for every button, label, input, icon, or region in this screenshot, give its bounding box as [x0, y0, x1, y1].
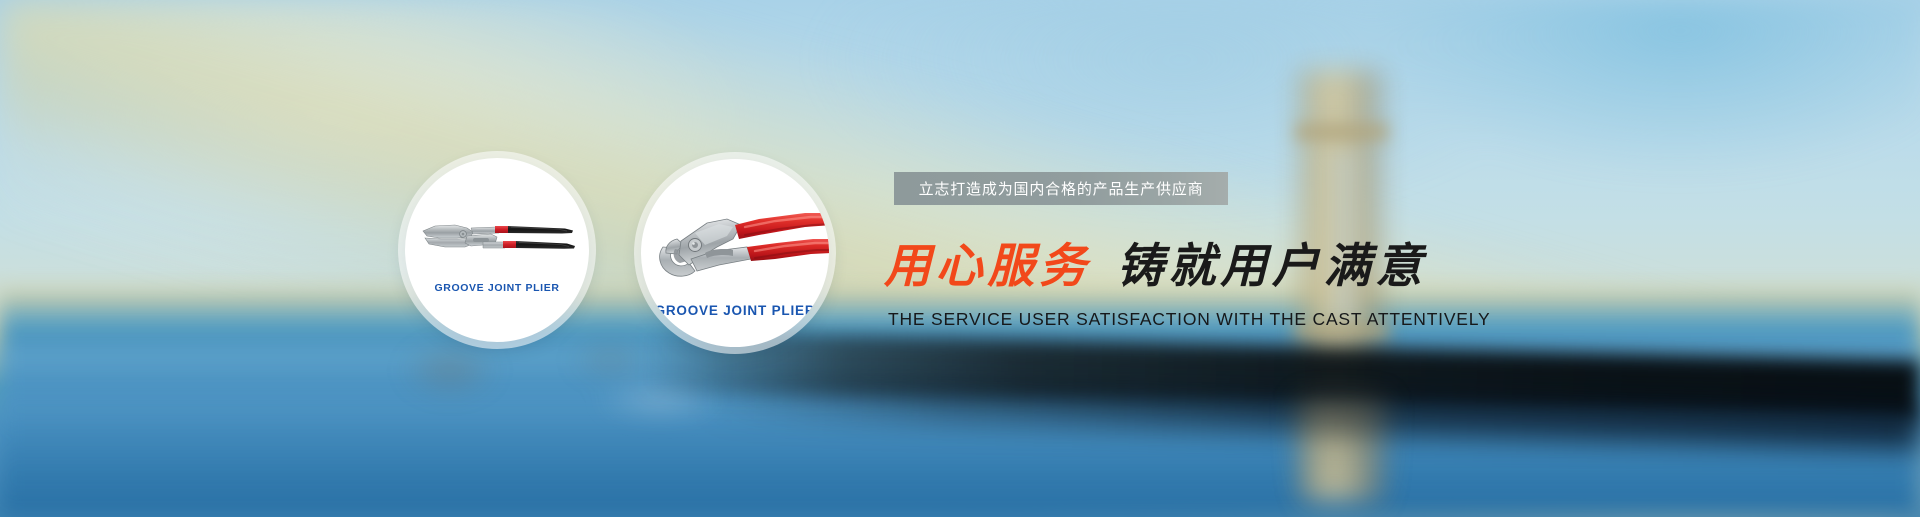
groove-joint-plier-icon	[421, 214, 577, 264]
tagline-bar: 立志打造成为国内合格的产品生产供应商	[894, 172, 1228, 205]
headline-rest: 铸就用户满意	[1117, 243, 1427, 290]
product-caption: GROOVE JOINT PLIER	[641, 303, 829, 318]
headline-highlight: 用心服务	[884, 243, 1091, 290]
product-circle-2[interactable]: GROOVE JOINT PLIER	[641, 159, 829, 347]
tagline-text: 立志打造成为国内合格的产品生产供应商	[919, 178, 1204, 199]
bridge-tower-reflection	[1300, 400, 1384, 517]
product-circle-1[interactable]: GROOVE JOINT PLIER	[405, 158, 589, 342]
product-caption: GROOVE JOINT PLIER	[405, 282, 589, 294]
subheadline: THE SERVICE USER SATISFACTION WITH THE C…	[888, 309, 1490, 330]
bridge-tower-crossbeam-top	[1296, 124, 1388, 140]
groove-joint-plier-icon	[655, 205, 829, 287]
promo-banner: GROOVE JOINT PLIER	[0, 0, 1920, 517]
headline: 用心服务 铸就用户满意	[884, 243, 1427, 290]
